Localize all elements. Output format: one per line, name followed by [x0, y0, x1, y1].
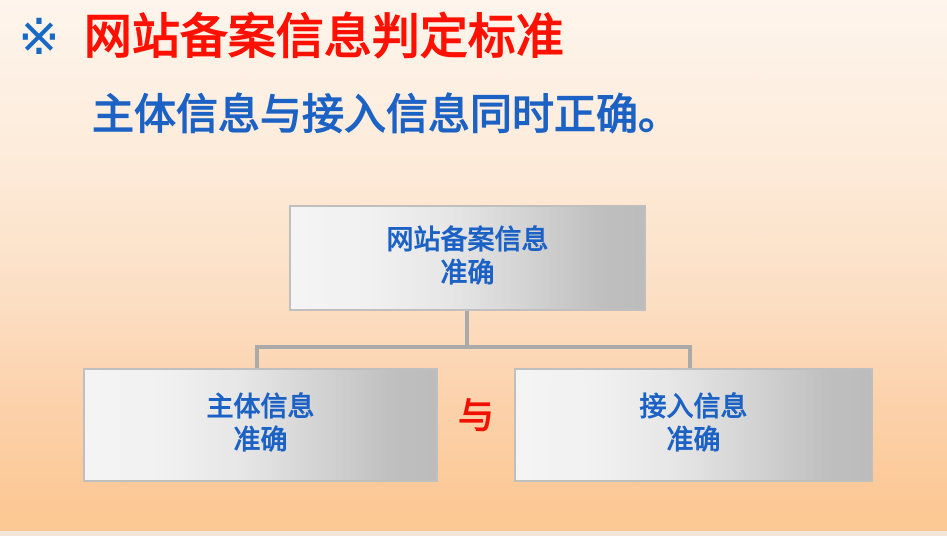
title-row: ※ 网站备案信息判定标准: [18, 12, 564, 63]
subtitle-text: 主体信息与接入信息同时正确。: [92, 92, 680, 138]
slide-canvas: ※ 网站备案信息判定标准 主体信息与接入信息同时正确。 网站备案信息 准确 主体…: [0, 0, 947, 536]
diagram-box-top-line1: 网站备案信息: [387, 225, 549, 258]
connector-vertical-left: [255, 345, 259, 370]
connector-vertical-right: [688, 345, 692, 370]
diagram-box-left: 主体信息 准确: [83, 368, 438, 482]
diagram-box-left-line2: 准确: [234, 425, 288, 458]
reference-mark-icon: ※: [18, 12, 60, 62]
diagram-box-right-line1: 接入信息: [640, 392, 748, 425]
diagram-box-left-line1: 主体信息: [207, 392, 315, 425]
diagram-box-top-line2: 准确: [441, 258, 495, 291]
bottom-strip: [0, 531, 947, 536]
diagram-box-right-line2: 准确: [667, 425, 721, 458]
connector-horizontal: [255, 345, 692, 349]
connector-vertical-top: [465, 311, 469, 349]
conjunction-label: 与: [438, 398, 514, 434]
diagram-box-top: 网站备案信息 准确: [289, 205, 646, 311]
diagram-box-right: 接入信息 准确: [514, 368, 873, 482]
page-title: 网站备案信息判定标准: [84, 12, 564, 63]
